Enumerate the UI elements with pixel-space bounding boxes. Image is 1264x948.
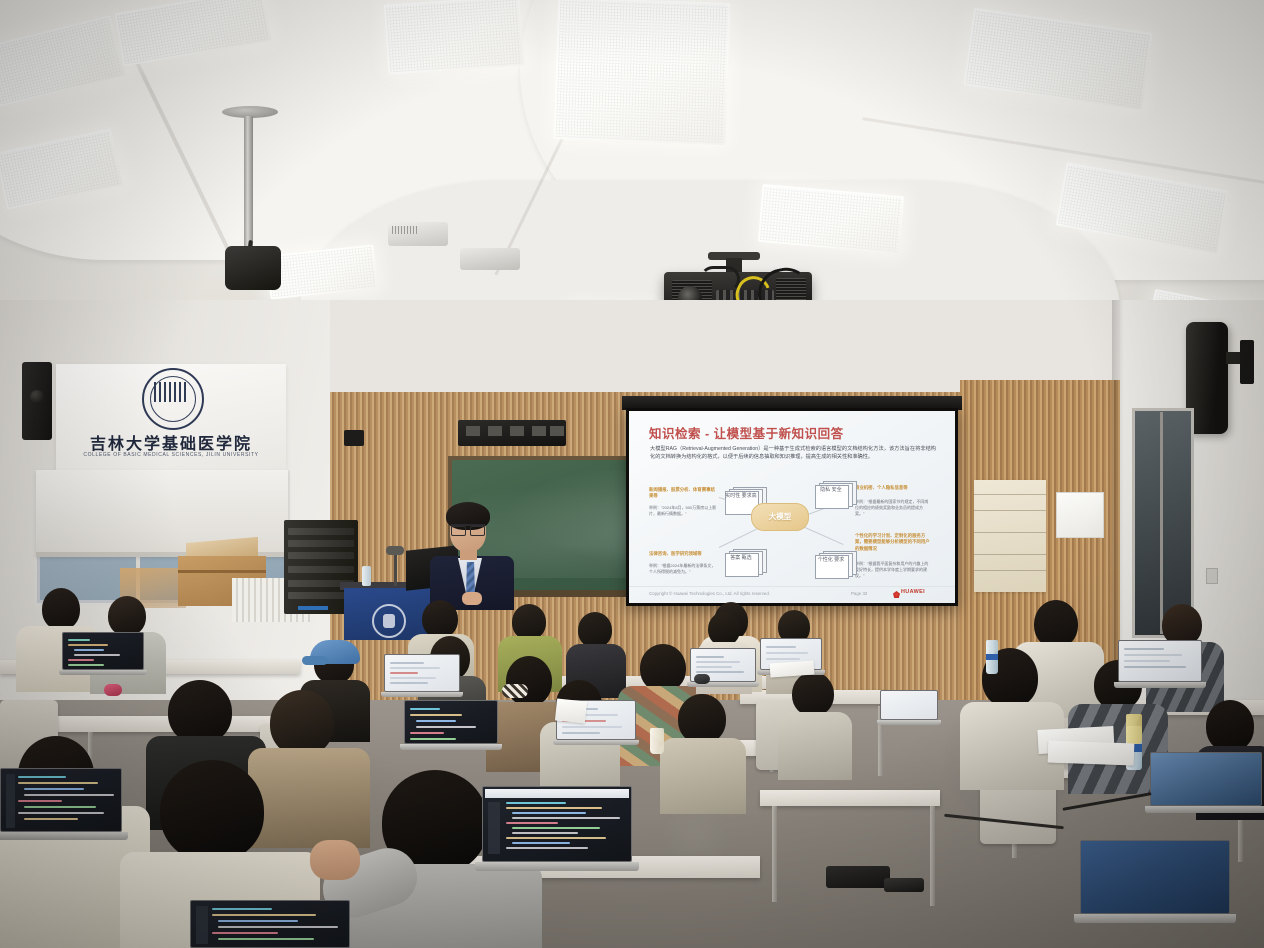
laptop-screen[interactable] bbox=[384, 654, 460, 692]
microphone-icon bbox=[386, 546, 404, 555]
student-head bbox=[42, 588, 80, 630]
note-left-top-heading: 新闻播报、股票分析、体育赛事结果等 bbox=[649, 487, 717, 500]
laptop-screen[interactable] bbox=[404, 700, 498, 744]
laptop-base bbox=[400, 744, 502, 750]
laptop-foreground[interactable] bbox=[482, 786, 632, 870]
door-divider bbox=[1160, 412, 1163, 634]
computer-mouse[interactable] bbox=[104, 684, 122, 696]
school-banner: 吉林大学基础医学院 COLLEGE OF BASIC MEDICAL SCIEN… bbox=[56, 364, 286, 476]
student-head bbox=[578, 612, 612, 648]
slide-brand: HUAWEI bbox=[901, 589, 925, 595]
document-content bbox=[1122, 644, 1198, 678]
laptop[interactable] bbox=[384, 654, 460, 696]
glasses-icon bbox=[451, 524, 485, 534]
note-left-bottom-body: 举例："根据2024年最新的法律条文，个人所得税的减免为。" bbox=[649, 563, 717, 575]
cap-brim-icon bbox=[302, 656, 328, 665]
note-right-bottom-heading: 个性化的学习计划、定制化的服务方案，需要模型能够分析模型的不同用户的数据情况 bbox=[855, 533, 931, 552]
ceiling-light-panel bbox=[554, 0, 731, 145]
code-editor-content bbox=[66, 636, 140, 666]
desk bbox=[760, 790, 940, 806]
node-privacy-label: 隐私 安全 bbox=[815, 487, 847, 495]
note-right-top-body: 举例："根据最新的国家节约规定，不同岗位的相应的绩效奖励和业务员的提成方案。" bbox=[855, 499, 931, 518]
student-head bbox=[1034, 600, 1078, 648]
ceiling-projector-small bbox=[388, 222, 448, 246]
presenter-tie bbox=[466, 562, 475, 596]
student-head bbox=[512, 604, 546, 640]
laptop[interactable] bbox=[1118, 640, 1202, 686]
student-head bbox=[270, 690, 334, 756]
laptop-base bbox=[475, 862, 639, 871]
editor-toolbar bbox=[485, 789, 629, 798]
laptop-base bbox=[1145, 806, 1264, 813]
white-wall-panel bbox=[1056, 492, 1104, 538]
laptop-screen[interactable] bbox=[1150, 752, 1262, 806]
node-personalize: 个性化 要求 bbox=[815, 551, 855, 577]
notebook bbox=[555, 698, 587, 723]
huawei-logo-icon bbox=[893, 591, 900, 598]
node-privacy: 隐私 安全 bbox=[815, 481, 855, 507]
paper-stack bbox=[1048, 741, 1135, 766]
presenter bbox=[428, 500, 516, 610]
laptop-foreground[interactable] bbox=[0, 768, 122, 838]
projector-cable-black bbox=[700, 266, 740, 292]
laptop-base bbox=[381, 692, 463, 697]
student-head bbox=[160, 760, 264, 862]
node-personalize-label: 个性化 要求 bbox=[815, 557, 847, 565]
school-seal-columns-icon bbox=[154, 382, 188, 402]
university-emblem-icon bbox=[372, 604, 406, 638]
laptop[interactable] bbox=[1080, 840, 1230, 922]
connector-line bbox=[805, 527, 844, 545]
laptop-screen[interactable] bbox=[880, 690, 938, 720]
code-editor-content bbox=[486, 800, 628, 858]
student-head bbox=[108, 596, 146, 636]
laptop-base bbox=[877, 720, 941, 725]
document-content bbox=[388, 658, 456, 688]
student-head bbox=[640, 644, 686, 692]
water-bottle bbox=[362, 566, 371, 586]
slide-body-text: 大模型RAG（Retrieval-Augmented Generation）是一… bbox=[650, 445, 936, 461]
hair-scrunchie-icon bbox=[502, 684, 528, 698]
equipment-case bbox=[884, 878, 924, 892]
student-head bbox=[422, 600, 458, 638]
laptop-screen[interactable] bbox=[62, 632, 144, 670]
laptop-screen[interactable] bbox=[1118, 640, 1202, 682]
laptop[interactable] bbox=[404, 700, 498, 748]
desk-leg bbox=[930, 806, 935, 906]
connector-line bbox=[719, 529, 757, 548]
laptop-screen[interactable] bbox=[482, 786, 632, 862]
laptop[interactable] bbox=[880, 690, 938, 724]
school-banner-title: 吉林大学基础医学院 bbox=[56, 430, 286, 454]
laptop-base bbox=[1074, 914, 1236, 923]
wall-light-fixture bbox=[344, 430, 364, 446]
center-node-large-model: 大模型 bbox=[751, 503, 809, 531]
node-answer: 答案 甄选 bbox=[725, 549, 765, 575]
node-realtime-label: 实时性 要求高 bbox=[725, 493, 757, 501]
camera-pole bbox=[244, 116, 253, 246]
student-hand bbox=[310, 840, 360, 880]
drink-cup[interactable] bbox=[650, 728, 664, 754]
board-control-panel[interactable] bbox=[458, 420, 566, 446]
laptop-base bbox=[1114, 682, 1206, 688]
projected-slide: 知识检索 - 让模型基于新知识回答 大模型RAG（Retrieval-Augme… bbox=[629, 411, 955, 603]
computer-mouse[interactable] bbox=[694, 674, 710, 684]
ceiling-projector-small-2 bbox=[460, 248, 520, 270]
laptop-foreground[interactable] bbox=[190, 900, 350, 948]
wall-speaker-left bbox=[22, 362, 52, 440]
desk-leg bbox=[772, 806, 777, 902]
cloth-wall-banner bbox=[974, 480, 1046, 592]
laptop-screen[interactable] bbox=[190, 900, 350, 948]
slide-copyright: Copyright © Huawei Technologies Co., Ltd… bbox=[649, 591, 770, 596]
laptop-screen[interactable] bbox=[0, 768, 122, 832]
student-head bbox=[168, 680, 232, 744]
ceiling-light-panel bbox=[758, 184, 905, 254]
laptop[interactable] bbox=[1150, 752, 1262, 812]
student-head bbox=[792, 672, 834, 716]
speaker-bracket bbox=[1240, 340, 1254, 384]
slide-title: 知识检索 - 让模型基于新知识回答 bbox=[649, 423, 844, 442]
student-head bbox=[708, 612, 740, 646]
student bbox=[660, 694, 746, 806]
laptop-base bbox=[553, 740, 639, 745]
student-head bbox=[678, 694, 726, 744]
school-banner-subtitle: COLLEGE OF BASIC MEDICAL SCIENCES, JILIN… bbox=[56, 452, 286, 458]
laptop-base bbox=[59, 670, 147, 675]
code-editor-content bbox=[194, 904, 346, 944]
center-node-label: 大模型 bbox=[752, 511, 808, 522]
node-answer-label: 答案 甄选 bbox=[725, 555, 757, 563]
slide-footer: Copyright © Huawei Technologies Co., Ltd… bbox=[629, 586, 955, 603]
laptop-screen[interactable] bbox=[1080, 840, 1230, 914]
ceiling-camera bbox=[225, 246, 281, 290]
slide-page-number: Page 32 bbox=[851, 591, 867, 596]
water-bottle[interactable] bbox=[986, 640, 998, 674]
student bbox=[778, 672, 852, 772]
light-switch[interactable] bbox=[1206, 568, 1218, 584]
student-torso bbox=[778, 712, 852, 780]
student-head bbox=[1206, 700, 1254, 752]
student-torso bbox=[660, 738, 746, 814]
ceiling-light-panel bbox=[384, 0, 525, 75]
note-right-top-heading: 商业机密、个人隐私信息等 bbox=[855, 485, 931, 491]
classroom-photo: 吉林大学基础医学院 COLLEGE OF BASIC MEDICAL SCIEN… bbox=[0, 0, 1264, 948]
note-left-bottom-heading: 法律咨询、医学研究领域等 bbox=[649, 551, 717, 557]
note-left-top-body: 举例："2024年8月，500万票房以上影片，最新行情数据。" bbox=[649, 505, 717, 517]
equipment-case bbox=[826, 866, 890, 888]
laptop[interactable] bbox=[62, 632, 144, 674]
microphone-stand bbox=[394, 552, 397, 586]
code-editor-content bbox=[408, 704, 494, 740]
code-editor-content bbox=[4, 772, 118, 828]
rack-status-led bbox=[298, 606, 328, 610]
drink-cup[interactable] bbox=[1126, 714, 1142, 744]
note-right-bottom-body: 举例："根据我平面复杂和用户的兴趣上的爱好特长，提供本学年度上学期要求的建议。" bbox=[855, 561, 931, 580]
laptop-base bbox=[0, 832, 128, 840]
